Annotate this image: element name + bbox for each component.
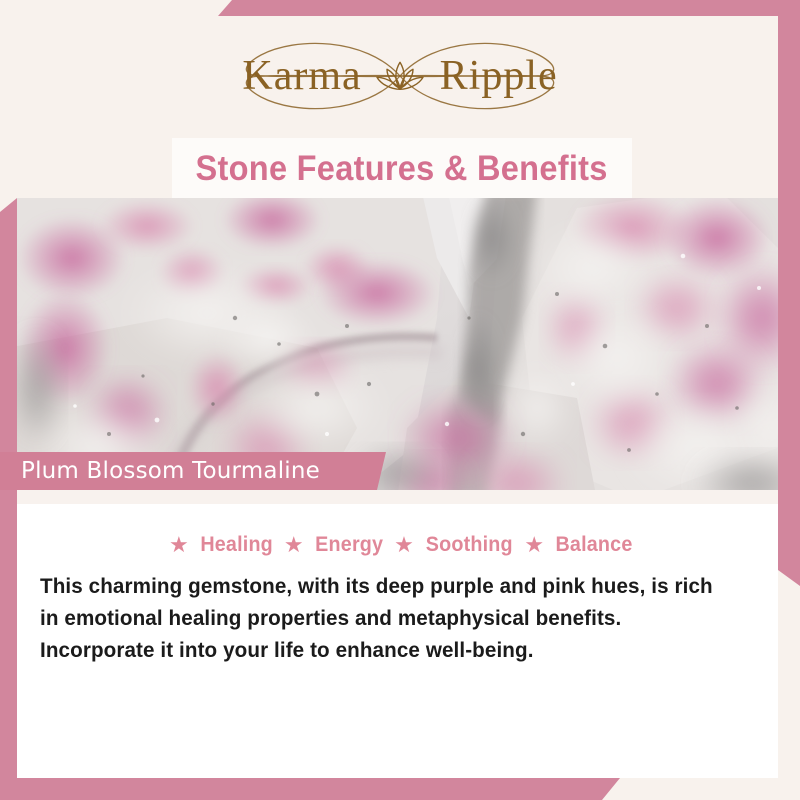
feature-tag-label: Healing xyxy=(200,533,273,557)
brand-logo-inner: Karma Ripple xyxy=(220,33,580,119)
stone-name-bar: Plum Blossom Tourmaline xyxy=(0,452,386,490)
description-paragraph: This charming gemstone, with its deep pu… xyxy=(40,570,729,666)
section-title-band: Stone Features & Benefits xyxy=(172,138,632,199)
feature-tag-energy: ★ Energy xyxy=(275,533,385,557)
stone-name-label: Plum Blossom Tourmaline xyxy=(21,458,320,484)
brand-word-right: Ripple xyxy=(440,55,558,97)
star-icon: ★ xyxy=(524,534,544,556)
lotus-icon xyxy=(373,55,427,100)
frame-accent-left xyxy=(0,198,17,800)
star-icon: ★ xyxy=(169,534,189,556)
brand-logo: Karma Ripple xyxy=(0,28,800,123)
feature-tag-list: ★ Healing ★ Energy ★ Soothing ★ Balance xyxy=(17,533,778,557)
page-title: Stone Features & Benefits xyxy=(196,149,608,189)
gemstone-photo-illustration xyxy=(17,198,778,490)
feature-tag-healing: ★ Healing xyxy=(160,533,275,557)
card-top-divider xyxy=(17,490,778,504)
frame-accent-top xyxy=(218,0,800,16)
feature-tag-label: Soothing xyxy=(426,533,513,557)
feature-tag-label: Energy xyxy=(315,533,383,557)
feature-tag-label: Balance xyxy=(556,533,633,557)
frame-accent-bottom xyxy=(0,778,620,800)
brand-word-left: Karma xyxy=(242,55,361,97)
star-icon: ★ xyxy=(284,534,304,556)
feature-tag-soothing: ★ Soothing xyxy=(385,533,515,557)
star-icon: ★ xyxy=(394,534,414,556)
content-card: ★ Healing ★ Energy ★ Soothing ★ Balance … xyxy=(17,490,778,778)
infographic-canvas: Karma Ripple Stone Features & Benefits xyxy=(0,0,800,800)
feature-tag-balance: ★ Balance xyxy=(515,533,635,557)
product-photo xyxy=(17,198,778,490)
